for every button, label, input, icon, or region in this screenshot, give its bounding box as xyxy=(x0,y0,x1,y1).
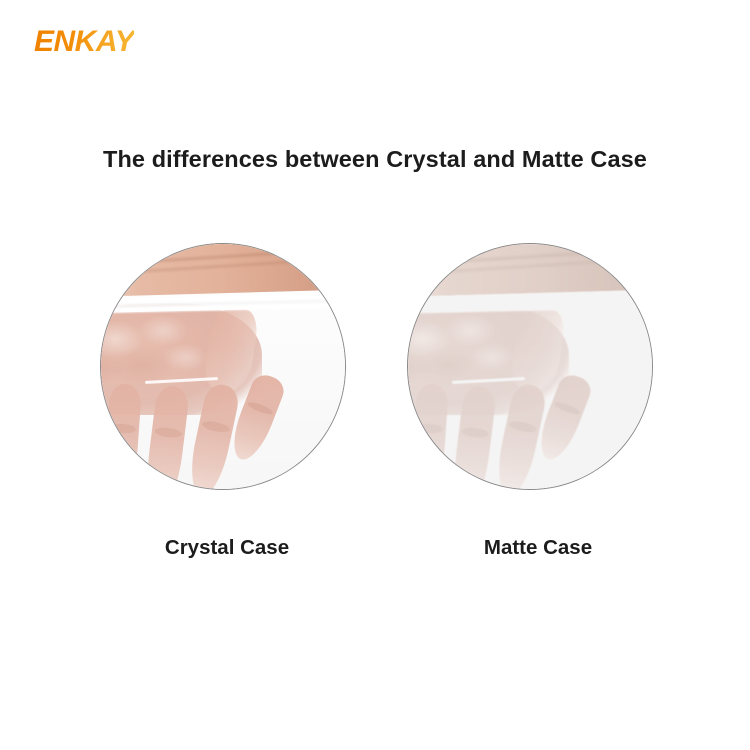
matte-veil xyxy=(408,244,652,489)
comparison-row xyxy=(0,243,750,493)
crystal-case-photo xyxy=(100,243,346,490)
caption-crystal-case: Crystal Case xyxy=(104,536,350,560)
brand-logo: ENKAY xyxy=(34,27,134,57)
wrist-region xyxy=(101,244,345,297)
page-title: The differences between Crystal and Matt… xyxy=(0,146,750,173)
comparison-item-matte xyxy=(407,243,653,490)
matte-case-photo xyxy=(407,243,653,490)
crystal-scene xyxy=(101,244,345,489)
comparison-item-crystal xyxy=(100,243,346,490)
case-haze xyxy=(101,342,345,489)
caption-matte-case: Matte Case xyxy=(415,536,661,560)
